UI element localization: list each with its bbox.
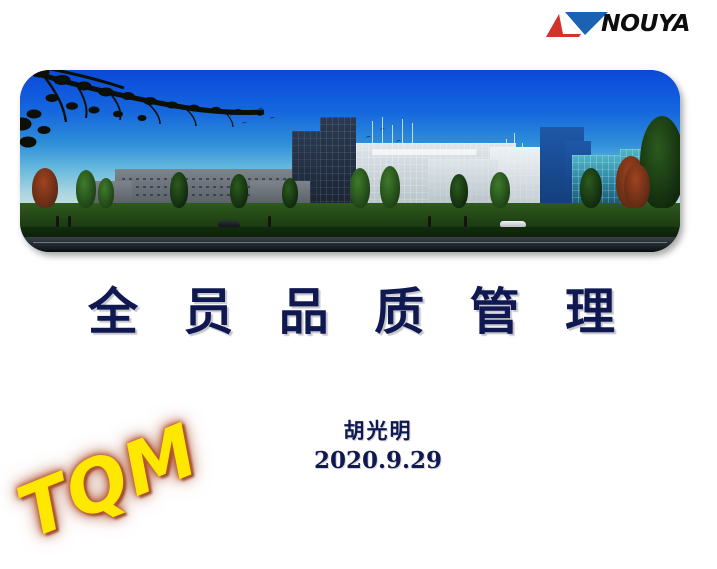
vehicle — [218, 221, 240, 227]
tree — [230, 174, 248, 208]
company-logo: NOUYA — [545, 6, 705, 44]
tree — [450, 174, 468, 208]
slide-canvas: NOUYA — [0, 0, 717, 546]
hero-photo-panel — [20, 70, 680, 252]
tree — [580, 168, 602, 208]
nouya-arrow-mark-icon — [545, 8, 609, 42]
tree — [170, 172, 188, 208]
presentation-date: 2020.9.29 — [268, 446, 488, 476]
slide-main-title: 全 员 品 质 管 理 — [0, 272, 717, 344]
hero-photo-image — [20, 70, 680, 252]
person-figure — [68, 216, 71, 227]
logo-wordmark: NOUYA — [601, 11, 690, 37]
person-figure — [428, 216, 431, 227]
vehicle — [500, 221, 526, 227]
person-figure — [56, 216, 59, 227]
tqm-wordart: TQM — [0, 393, 221, 569]
tree — [490, 172, 510, 208]
tree — [624, 164, 650, 208]
tree — [380, 166, 400, 208]
photo-road — [20, 237, 680, 250]
presenter-block: 胡光明 2020.9.29 — [268, 418, 488, 476]
tree — [98, 178, 114, 208]
person-figure — [464, 216, 467, 227]
photo-road-line — [33, 242, 667, 243]
tree — [32, 168, 58, 208]
building-block — [250, 181, 310, 203]
person-figure — [268, 216, 271, 227]
photo-lawn — [20, 203, 680, 227]
tree — [76, 170, 96, 208]
presenter-name: 胡光明 — [268, 418, 488, 444]
tree — [350, 168, 370, 208]
building-sign — [372, 149, 476, 155]
tree — [282, 178, 298, 208]
